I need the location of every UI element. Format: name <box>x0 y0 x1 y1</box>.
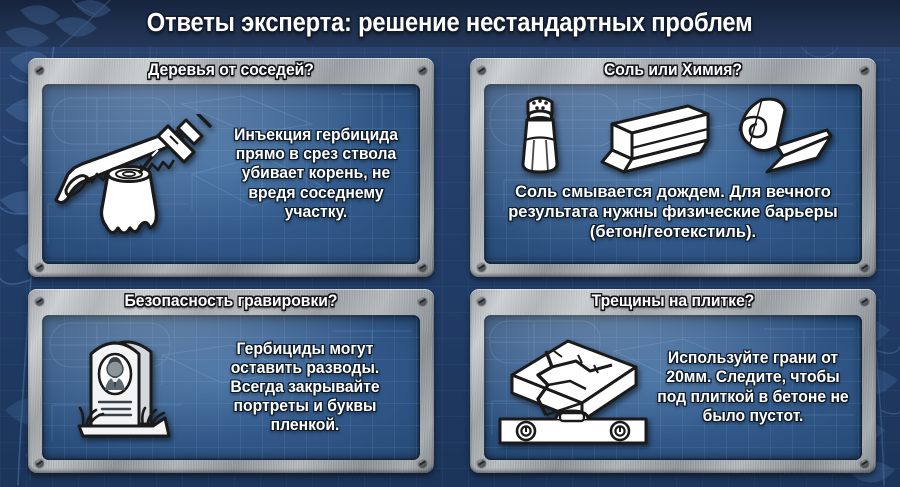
panel-salt-or-chemistry[interactable]: Соль или Химия? <box>470 58 876 277</box>
screw-icon <box>418 458 427 467</box>
cracked-tile-icon <box>512 341 636 421</box>
panel-title-salt: Соль или Химия? <box>480 61 866 80</box>
icon-group-tile <box>492 321 654 454</box>
panel-title-trees: Деревья от соседей? <box>38 61 424 80</box>
panel-board-trees: Инъекция гербицида прямо в срез ствола у… <box>42 84 420 264</box>
gravestone-icon <box>69 326 181 450</box>
screw-icon <box>860 458 869 467</box>
spirit-level-icon <box>500 411 646 443</box>
infographic-root: Ответы эксперта: решение нестандартных п… <box>0 0 900 487</box>
handsaw-stump-syringe-icon <box>52 114 220 234</box>
panel-title-engraving: Безопасность гравировки? <box>38 292 424 311</box>
icon-group-trees <box>50 90 222 258</box>
panel-body-trees: Инъекция гербицида прямо в срез ствола у… <box>225 126 407 222</box>
panel-engraving-safety[interactable]: Безопасность гравировки? <box>28 289 434 473</box>
page-title: Ответы эксперта: решение нестандартных п… <box>147 9 753 38</box>
panel-tile-cracks[interactable]: Трещины на плитке? <box>470 289 876 473</box>
screw-icon <box>477 458 486 467</box>
screw-icon <box>35 262 44 271</box>
panel-trees[interactable]: Деревья от соседей? <box>28 58 434 277</box>
panel-body-engraving: Гербициды могут оставить разводы. Всегда… <box>203 340 407 436</box>
screw-icon <box>418 262 427 271</box>
icon-group-salt <box>492 88 854 180</box>
panel-board-salt: Соль смывается дождем. Для вечного резул… <box>484 84 862 264</box>
panel-board-tile: Используйте грани от 20мм. Следите, чтоб… <box>484 315 862 460</box>
screw-icon <box>860 262 869 271</box>
icon-group-engraving <box>50 321 200 454</box>
concrete-curb-icon <box>584 100 712 180</box>
screw-icon <box>477 262 486 271</box>
geotextile-roll-icon <box>731 96 835 180</box>
panel-board-engraving: Гербициды могут оставить разводы. Всегда… <box>42 315 420 460</box>
panel-title-tile: Трещины на плитке? <box>480 292 866 311</box>
screw-icon <box>35 458 44 467</box>
cracked-tile-level-icon <box>494 327 652 449</box>
tree-stump-icon <box>102 167 157 234</box>
panel-grid: Деревья от соседей? <box>28 58 876 473</box>
panel-body-salt: Соль смывается дождем. Для вечного резул… <box>497 182 848 259</box>
salt-shaker-icon <box>515 92 565 180</box>
panel-body-tile: Используйте грани от 20мм. Следите, чтоб… <box>657 349 849 425</box>
page-header: Ответы эксперта: решение нестандартных п… <box>0 0 900 47</box>
